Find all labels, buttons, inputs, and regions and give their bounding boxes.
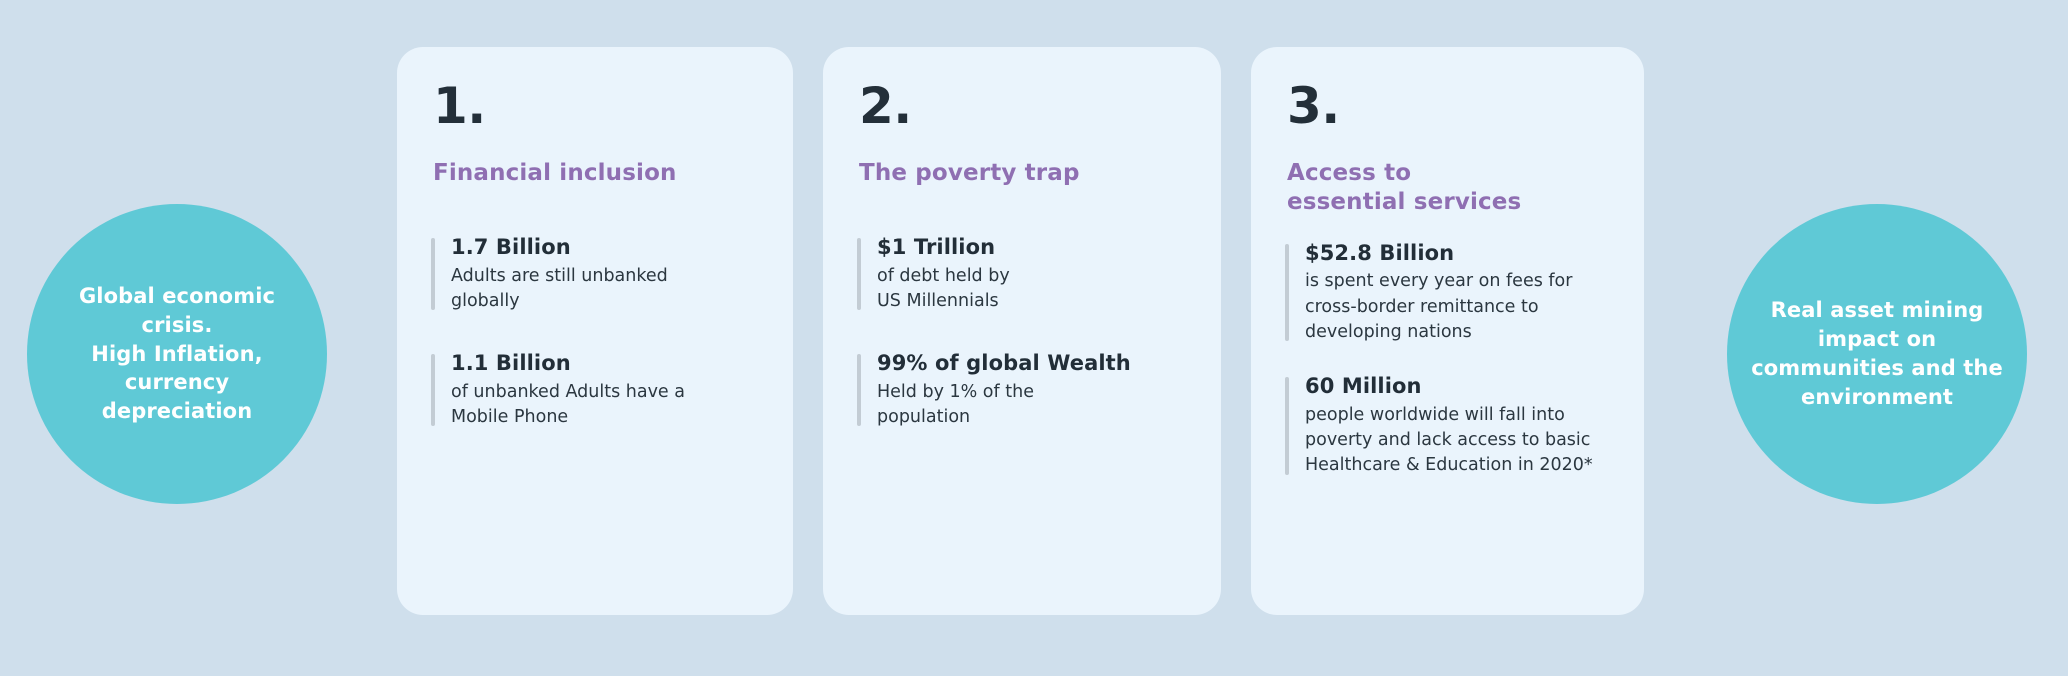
cards-row: 1. Financial inclusion 1.7 Billion Adult… (397, 47, 1644, 615)
card-access-to-essential-services[interactable]: 3. Access to essential services $52.8 Bi… (1251, 47, 1644, 615)
card-number: 2. (859, 77, 1187, 131)
stat-description: Held by 1% of the population (877, 380, 1187, 431)
infographic-canvas: Global economic crisis. High Inflation, … (0, 0, 2068, 676)
stat-value: $1 Trillion (877, 234, 1187, 260)
circle-real-asset-mining-impact: Real asset mining impact on communities … (1727, 204, 2027, 504)
stat-description: of unbanked Adults have a Mobile Phone (451, 380, 759, 431)
stat-description: people worldwide will fall into poverty … (1305, 403, 1610, 479)
stat-item: $52.8 Billion is spent every year on fee… (1285, 240, 1610, 345)
stat-item: $1 Trillion of debt held by US Millennia… (857, 234, 1187, 314)
stat-item: 60 Million people worldwide will fall in… (1285, 373, 1610, 478)
stat-value: 99% of global Wealth (877, 350, 1187, 376)
stat-item: 99% of global Wealth Held by 1% of the p… (857, 350, 1187, 430)
stat-list: $52.8 Billion is spent every year on fee… (1285, 240, 1610, 479)
stat-description: is spent every year on fees for cross-bo… (1305, 269, 1610, 345)
card-title: Financial inclusion (433, 159, 703, 188)
stat-item: 1.1 Billion of unbanked Adults have a Mo… (431, 350, 759, 430)
circle-right-label: Real asset mining impact on communities … (1727, 296, 2027, 412)
stat-list: $1 Trillion of debt held by US Millennia… (857, 234, 1187, 430)
stat-list: 1.7 Billion Adults are still unbanked gl… (431, 234, 759, 430)
stat-item: 1.7 Billion Adults are still unbanked gl… (431, 234, 759, 314)
card-number: 3. (1287, 77, 1610, 131)
card-financial-inclusion[interactable]: 1. Financial inclusion 1.7 Billion Adult… (397, 47, 793, 615)
circle-left-label: Global economic crisis. High Inflation, … (27, 282, 327, 427)
stat-value: 1.1 Billion (451, 350, 759, 376)
stat-description: of debt held by US Millennials (877, 264, 1187, 315)
card-number: 1. (433, 77, 759, 131)
stat-value: 1.7 Billion (451, 234, 759, 260)
card-title: Access to essential services (1287, 159, 1527, 218)
card-title: The poverty trap (859, 159, 1129, 188)
stat-value: 60 Million (1305, 373, 1610, 399)
card-poverty-trap[interactable]: 2. The poverty trap $1 Trillion of debt … (823, 47, 1221, 615)
stat-description: Adults are still unbanked globally (451, 264, 759, 315)
circle-global-economic-crisis: Global economic crisis. High Inflation, … (27, 204, 327, 504)
stat-value: $52.8 Billion (1305, 240, 1610, 266)
